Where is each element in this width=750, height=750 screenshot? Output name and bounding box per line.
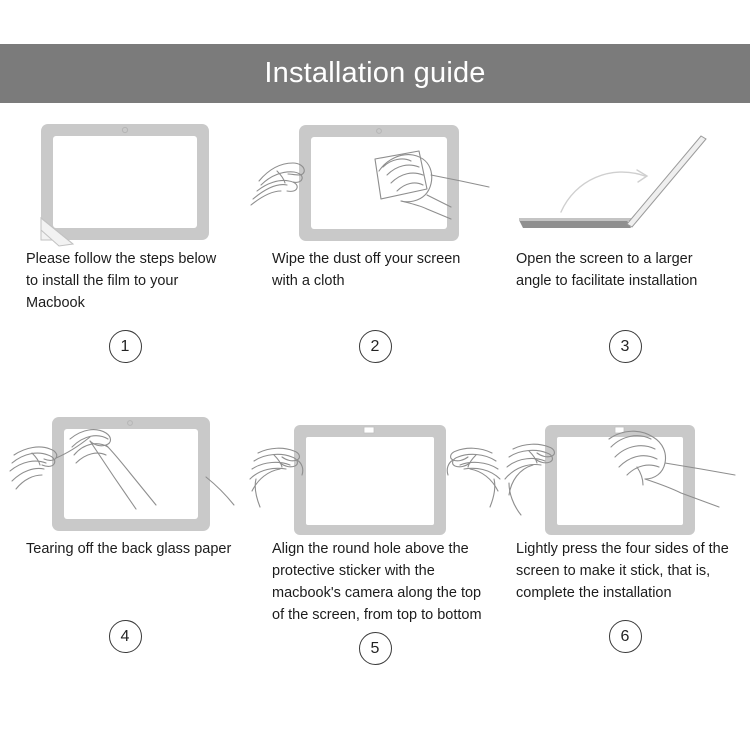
steps-row-bottom: Tearing off the back glass paper 4 xyxy=(0,408,750,698)
step-card-4: Tearing off the back glass paper 4 xyxy=(0,408,250,698)
step-4-illustration xyxy=(0,408,250,538)
header-bar: Installation guide xyxy=(0,44,750,103)
tablet-with-peeling-film-icon xyxy=(33,120,218,246)
hand-pressing-film-icon xyxy=(505,409,745,537)
step-card-6: Lightly press the four sides of the scre… xyxy=(500,408,750,698)
step-number-badge-5: 5 xyxy=(359,632,392,665)
step-2-badge-wrap: 2 xyxy=(250,324,500,408)
step-4-caption: Tearing off the back glass paper xyxy=(0,538,250,614)
steps-grid: Please follow the steps below to install… xyxy=(0,118,750,698)
step-card-1: Please follow the steps below to install… xyxy=(0,118,250,408)
step-number-badge-6: 6 xyxy=(609,620,642,653)
step-5-illustration xyxy=(250,408,500,538)
step-5-caption: Align the round hole above the protectiv… xyxy=(250,538,500,626)
page-title: Installation guide xyxy=(264,59,485,88)
step-5-badge-wrap: 5 xyxy=(250,626,500,698)
step-1-illustration xyxy=(0,118,250,248)
step-6-illustration xyxy=(500,408,750,538)
step-2-caption: Wipe the dust off your screen with a clo… xyxy=(250,248,500,324)
step-3-caption: Open the screen to a larger angle to fac… xyxy=(500,248,750,324)
step-number-badge-3: 3 xyxy=(609,330,642,363)
step-1-badge-wrap: 1 xyxy=(0,324,250,408)
step-card-5: Align the round hole above the protectiv… xyxy=(250,408,500,698)
step-number-badge-1: 1 xyxy=(109,330,142,363)
step-number-badge-2: 2 xyxy=(359,330,392,363)
hand-wiping-screen-with-cloth-icon xyxy=(251,119,499,247)
step-card-2: Wipe the dust off your screen with a clo… xyxy=(250,118,500,408)
hands-tearing-back-paper-icon xyxy=(10,409,240,537)
steps-row-top: Please follow the steps below to install… xyxy=(0,118,750,408)
step-1-caption: Please follow the steps below to install… xyxy=(0,248,250,324)
step-6-caption: Lightly press the four sides of the scre… xyxy=(500,538,750,614)
step-3-illustration xyxy=(500,118,750,248)
step-4-badge-wrap: 4 xyxy=(0,614,250,698)
step-6-badge-wrap: 6 xyxy=(500,614,750,698)
step-3-badge-wrap: 3 xyxy=(500,324,750,408)
installation-guide-page: Installation guide Please follow the s xyxy=(0,0,750,750)
step-number-badge-4: 4 xyxy=(109,620,142,653)
step-2-illustration xyxy=(250,118,500,248)
step-card-3: Open the screen to a larger angle to fac… xyxy=(500,118,750,408)
laptop-open-lid-angle-icon xyxy=(505,120,745,246)
two-hands-aligning-film-icon xyxy=(250,409,500,537)
